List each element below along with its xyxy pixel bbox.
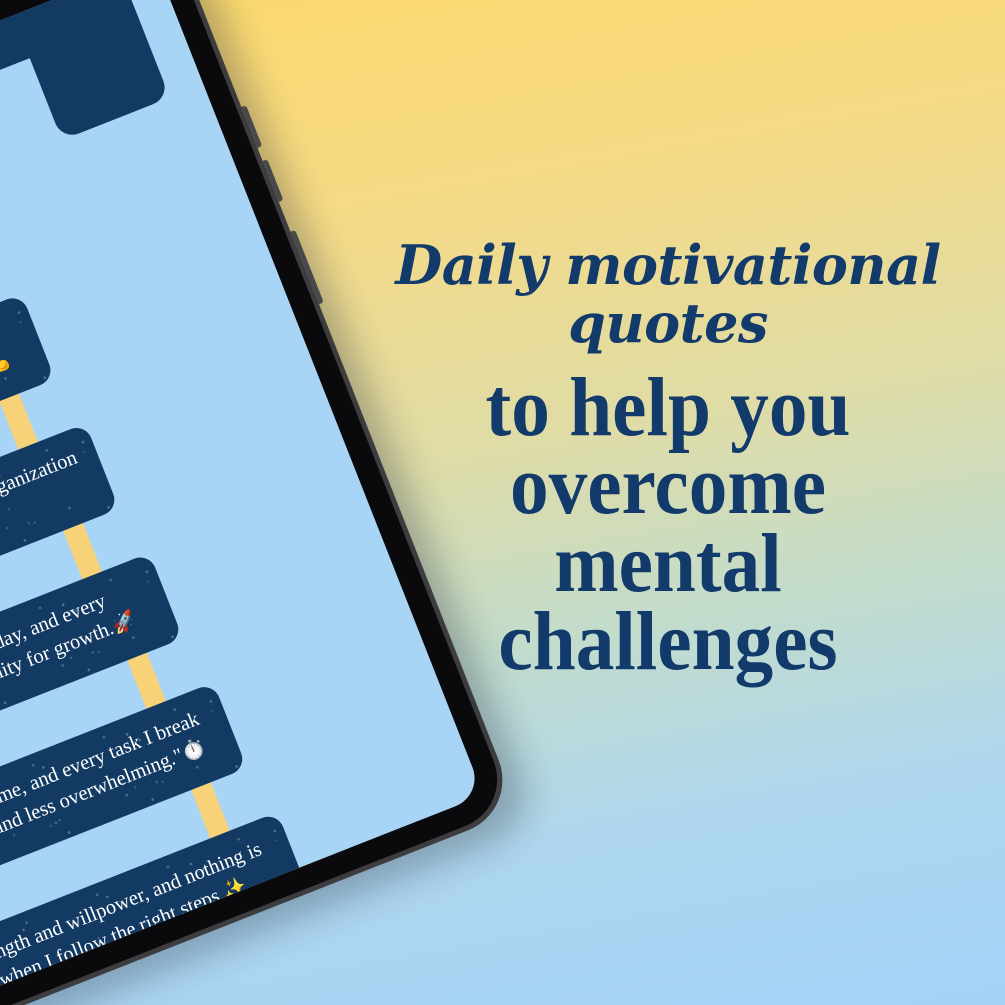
sparkles-emoji: ✨: [220, 875, 250, 904]
decorative-corner-shape: [7, 0, 170, 140]
promo-headline-line-3: mental: [401, 525, 935, 603]
promo-headline-line-1: to help you: [401, 369, 935, 447]
promo-headline: to help you overcome mental challenges: [401, 369, 935, 681]
promo-graphic: Affirmations I am controlling my mind an…: [0, 0, 1005, 1005]
promo-script-line-1: Daily motivational: [378, 236, 958, 294]
promo-headline-line-2: overcome: [401, 447, 935, 525]
promo-copy: Daily motivational quotes to help you ov…: [378, 236, 958, 681]
affirmation-text: I am full of strength and willpower, and…: [0, 832, 284, 1005]
affirmation-text: I am capable of achieving balance in my …: [0, 962, 348, 1005]
flexed-biceps-emoji: 💪: [0, 348, 14, 377]
promo-headline-line-4: challenges: [401, 603, 935, 681]
sparkling-heart-emoji: 💖: [298, 998, 328, 1005]
promo-script-line-2: quotes: [378, 294, 958, 352]
